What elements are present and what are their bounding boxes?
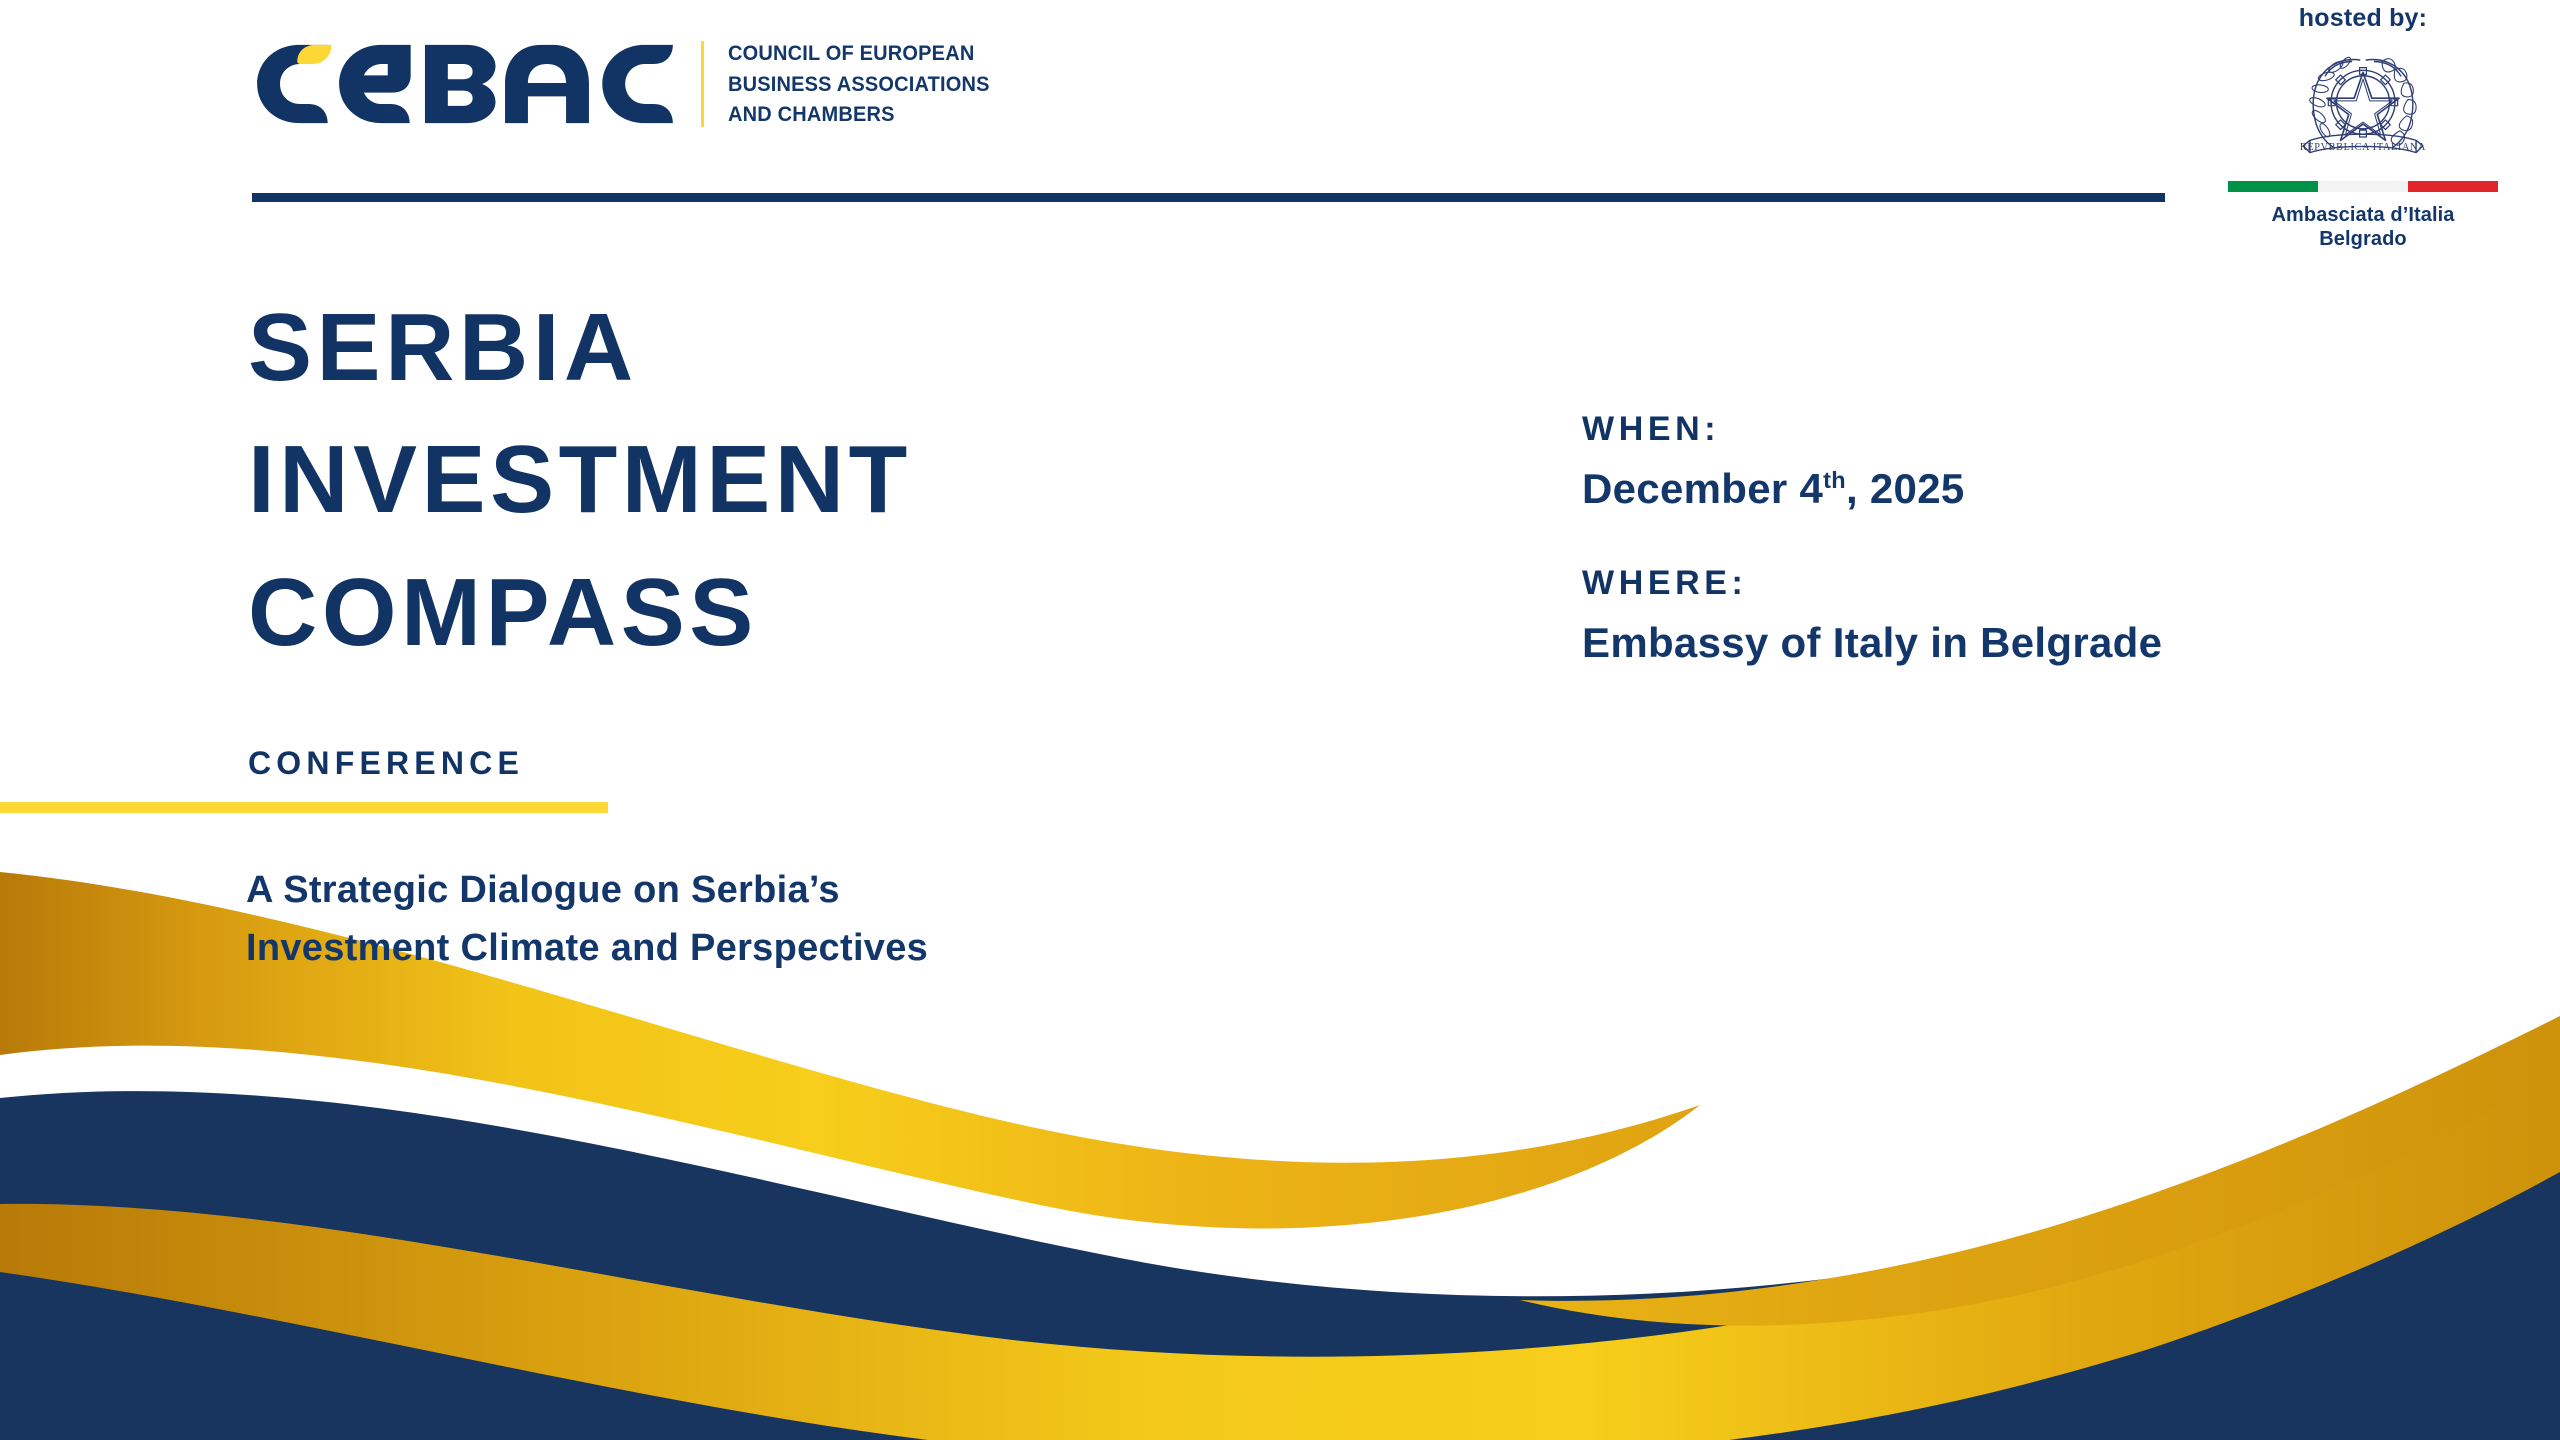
- kicker-underline-rule: [0, 802, 608, 813]
- host-organisation: Ambasciata d’Italia Belgrado: [2228, 203, 2498, 252]
- subtitle-line-2: Investment Climate and Perspectives: [246, 920, 928, 978]
- title-line-2: INVESTMENT: [248, 414, 912, 546]
- when-date-suffix: , 2025: [1846, 465, 1965, 512]
- tagline-line-1: COUNCIL OF EUROPEAN: [728, 38, 990, 69]
- when-date-prefix: December 4: [1582, 465, 1823, 512]
- emblem-ribbon-text: REPVBBLICA ITALIANA: [2300, 142, 2426, 153]
- subtitle-line-1: A Strategic Dialogue on Serbia’s: [246, 862, 928, 920]
- flag-stripe-white: [2318, 181, 2408, 192]
- italian-republic-emblem-icon: REPVBBLICA ITALIANA: [2295, 37, 2431, 173]
- decorative-wave-background: [0, 0, 2560, 1440]
- when-date-ordinal: th: [1823, 467, 1846, 493]
- hosted-by-label: hosted by:: [2228, 6, 2498, 31]
- event-subtitle: A Strategic Dialogue on Serbia’s Investm…: [246, 862, 928, 978]
- conference-kicker: CONFERENCE: [248, 745, 524, 782]
- host-org-line-1: Ambasciata d’Italia: [2228, 203, 2498, 227]
- where-value: Embassy of Italy in Belgrade: [1582, 622, 2162, 664]
- host-org-line-2: Belgrado: [2228, 227, 2498, 251]
- hosted-by-block: hosted by:: [2228, 6, 2498, 252]
- wave-navy-foot: [0, 1172, 2560, 1440]
- poster-canvas: COUNCIL OF EUROPEAN BUSINESS ASSOCIATION…: [0, 0, 2560, 1440]
- cebac-logo-block[interactable]: COUNCIL OF EUROPEAN BUSINESS ASSOCIATION…: [255, 38, 1009, 130]
- logo-tagline: COUNCIL OF EUROPEAN BUSINESS ASSOCIATION…: [728, 38, 1009, 130]
- event-details: WHEN: December 4th, 2025 WHERE: Embassy …: [1582, 412, 2162, 664]
- when-label: WHEN:: [1582, 412, 2162, 446]
- header-divider-rule: [252, 193, 2165, 202]
- flag-stripe-green: [2228, 181, 2318, 192]
- where-label: WHERE:: [1582, 566, 2162, 600]
- wave-gold-mid: [0, 1038, 2560, 1440]
- title-line-1: SERBIA: [248, 282, 912, 414]
- title-line-3: COMPASS: [248, 547, 912, 679]
- page-title: SERBIA INVESTMENT COMPASS: [248, 282, 912, 679]
- wave-gold-right: [1520, 1016, 2560, 1326]
- flag-stripe-red: [2408, 181, 2498, 192]
- tagline-line-3: AND CHAMBERS: [728, 99, 990, 130]
- italy-tricolor-flag-icon: [2228, 181, 2498, 192]
- when-value: December 4th, 2025: [1582, 468, 2162, 510]
- details-spacer: [1582, 510, 2162, 566]
- logo-vertical-divider: [701, 41, 704, 127]
- wave-navy-main: [0, 1060, 2560, 1440]
- cebac-logo-icon: [255, 43, 675, 125]
- tagline-line-2: BUSINESS ASSOCIATIONS: [728, 69, 990, 100]
